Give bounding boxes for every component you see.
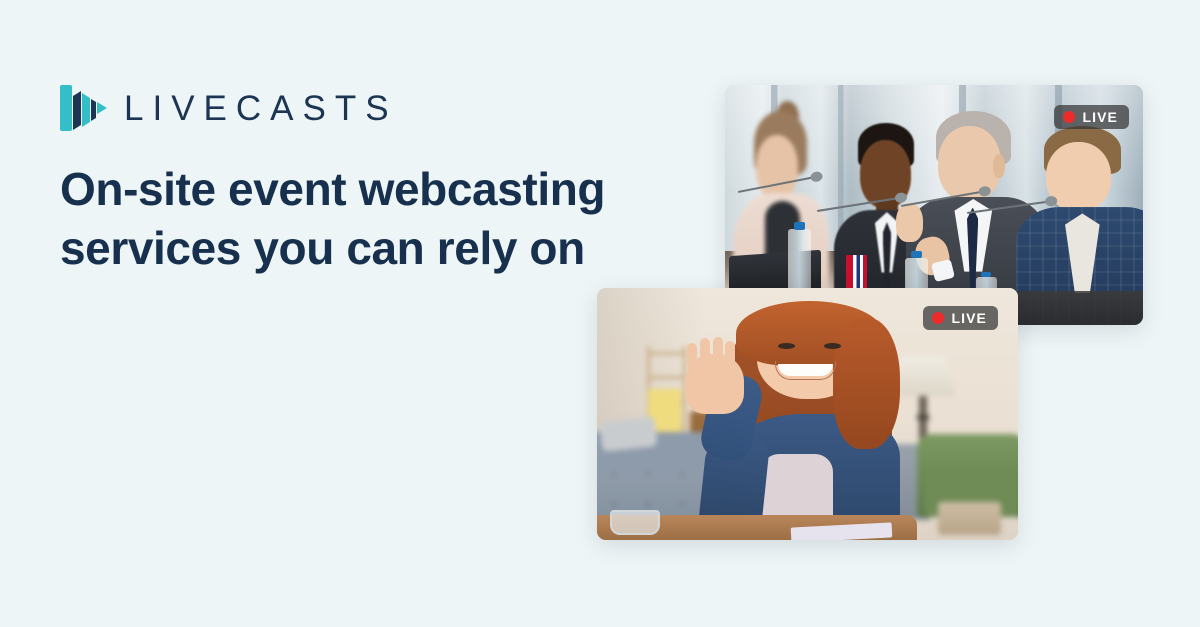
brand-wordmark: LIVECASTS [124,91,398,126]
live-record-dot-icon [932,312,944,324]
live-record-dot-icon [1063,111,1075,123]
headline-line-2: services you can rely on [60,219,720,278]
hero-banner: LIVECASTS On-site event webcasting servi… [0,0,1200,627]
media-card-remote-presenter[interactable]: LIVE [597,288,1018,540]
live-badge-label: LIVE [951,311,987,325]
headline-line-1: On-site event webcasting [60,160,720,219]
live-badge: LIVE [1054,105,1129,129]
live-badge: LIVE [923,306,998,330]
brand-logo[interactable]: LIVECASTS [60,82,398,134]
page-title: On-site event webcasting services you ca… [60,160,720,278]
livecasts-play-wave-logo-icon [60,82,108,134]
live-badge-label: LIVE [1082,110,1118,124]
